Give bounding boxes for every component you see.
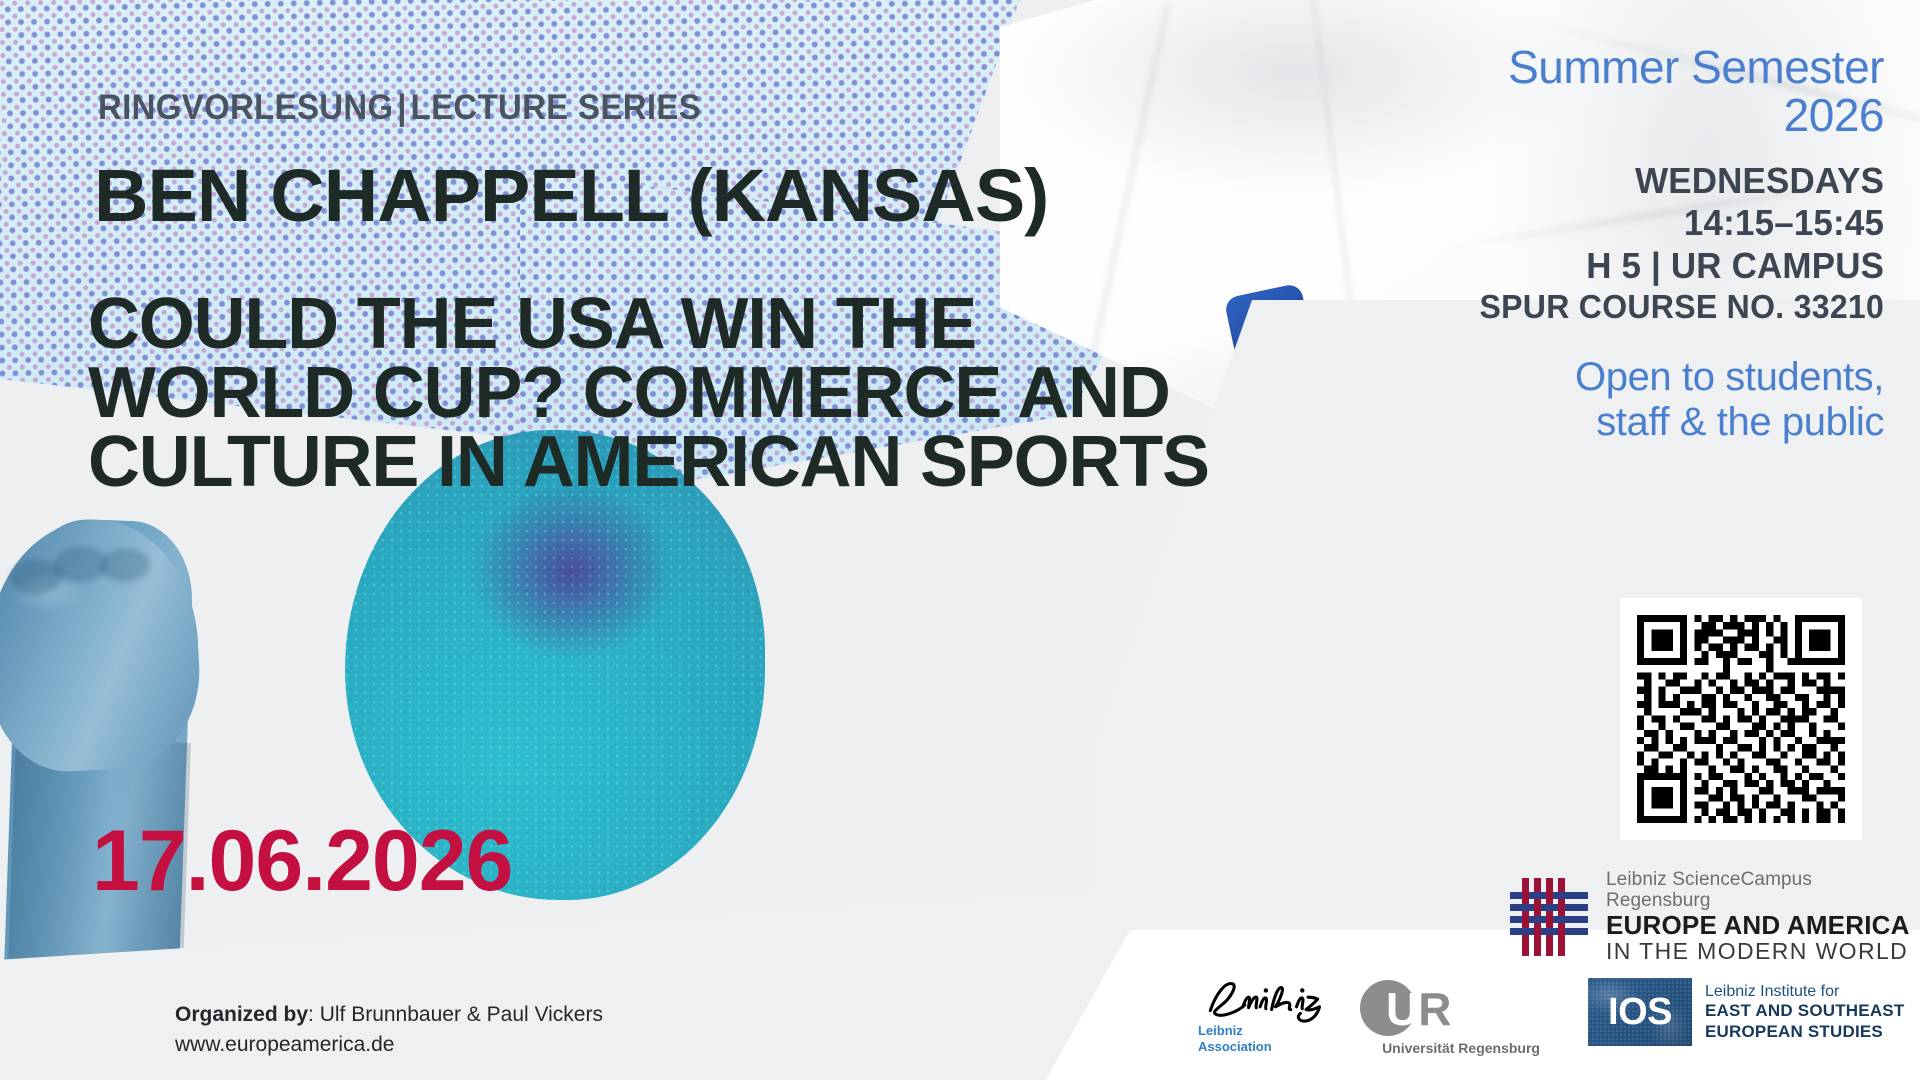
qr-code-card[interactable] [1620,598,1862,840]
ios-wordmark: IOS [1608,991,1672,1034]
ios-map-icon: IOS [1588,978,1692,1046]
semester-line-1: Summer Semester [1508,44,1884,92]
ur-letters: UR [1386,982,1450,1036]
audience-line-1: Open to students, [1575,355,1884,400]
website-url[interactable]: www.europeamerica.de [175,1030,603,1060]
ios-wordmark-text: Leibniz Institute for EAST AND SOUTHEAST… [1705,982,1904,1043]
organizer-separator: : [308,1003,320,1026]
leibniz-association-caption: Leibniz Association [1198,1023,1326,1054]
organizer-label: Organized by [175,1003,308,1026]
leibniz-signature-icon [1198,978,1328,1024]
ur-caption: Universität Regensburg [1360,1040,1540,1056]
talk-title: COULD THE USA WIN THE WORLD CUP? COMMERC… [88,290,1158,497]
event-date: 17.06.2026 [92,818,512,904]
organizer-block: Organized by: Ulf Brunnbauer & Paul Vick… [175,1000,603,1061]
universitaet-regensburg-logo: UR Universität Regensburg [1360,980,1540,1056]
organizer-line: Organized by: Ulf Brunnbauer & Paul Vick… [175,1000,603,1030]
leibniz-sciencecampus-logo: Leibniz ScienceCampus Regensburg EUROPE … [1508,870,1920,964]
ios-line-2: EAST AND SOUTHEAST [1705,1001,1904,1022]
kicker-english: LECTURE SERIES [411,88,701,127]
ios-institute-logo: IOS Leibniz Institute for EAST AND SOUTH… [1588,978,1904,1046]
schedule-room: H 5 | UR CAMPUS [1586,245,1884,287]
sciencecampus-weave-icon [1508,876,1590,958]
ur-mark-icon: UR [1360,980,1540,1036]
leibniz-caption-line-1: Leibniz [1198,1023,1326,1039]
audience-line-2: staff & the public [1575,400,1884,445]
schedule-day: WEDNESDAYS [1586,160,1884,202]
talk-title-line-3: CULTURE IN AMERICAN SPORTS [88,428,1158,497]
leibniz-caption-line-2: Association [1198,1039,1326,1055]
sciencecampus-line-2: EUROPE AND AMERICA [1606,911,1920,939]
semester-block: Summer Semester 2026 [1508,44,1884,140]
semester-line-2: 2026 [1508,92,1884,140]
sciencecampus-line-1: Leibniz ScienceCampus Regensburg [1606,870,1920,911]
qr-code-icon[interactable] [1637,615,1845,823]
course-number: SPUR COURSE NO. 33210 [1479,288,1884,326]
talk-title-line-1: COULD THE USA WIN THE [88,290,1158,359]
ur-letter-r: R [1418,983,1450,1035]
sciencecampus-line-3: IN THE MODERN WORLD [1606,939,1920,964]
lecture-series-poster: RINGVORLESUNG|LECTURE SERIES BEN CHAPPEL… [0,0,1920,1080]
ios-line-1: Leibniz Institute for [1705,982,1904,1002]
organizer-names: Ulf Brunnbauer & Paul Vickers [320,1003,603,1026]
ur-letter-u: U [1386,983,1418,1035]
kicker-divider: | [394,88,411,128]
leibniz-association-logo: Leibniz Association [1198,978,1326,1054]
audience-note: Open to students, staff & the public [1575,355,1884,445]
kicker-line: RINGVORLESUNG|LECTURE SERIES [98,88,701,128]
schedule-block: WEDNESDAYS 14:15–15:45 H 5 | UR CAMPUS [1586,160,1884,287]
sciencecampus-wordmark: Leibniz ScienceCampus Regensburg EUROPE … [1606,870,1920,964]
schedule-time: 14:15–15:45 [1586,202,1884,244]
kicker-german: RINGVORLESUNG [98,88,394,127]
ios-line-3: EUROPEAN STUDIES [1705,1022,1904,1043]
talk-title-line-2: WORLD CUP? COMMERCE AND [88,359,1158,428]
speaker-name: BEN CHAPPELL (KANSAS) [94,162,1048,230]
